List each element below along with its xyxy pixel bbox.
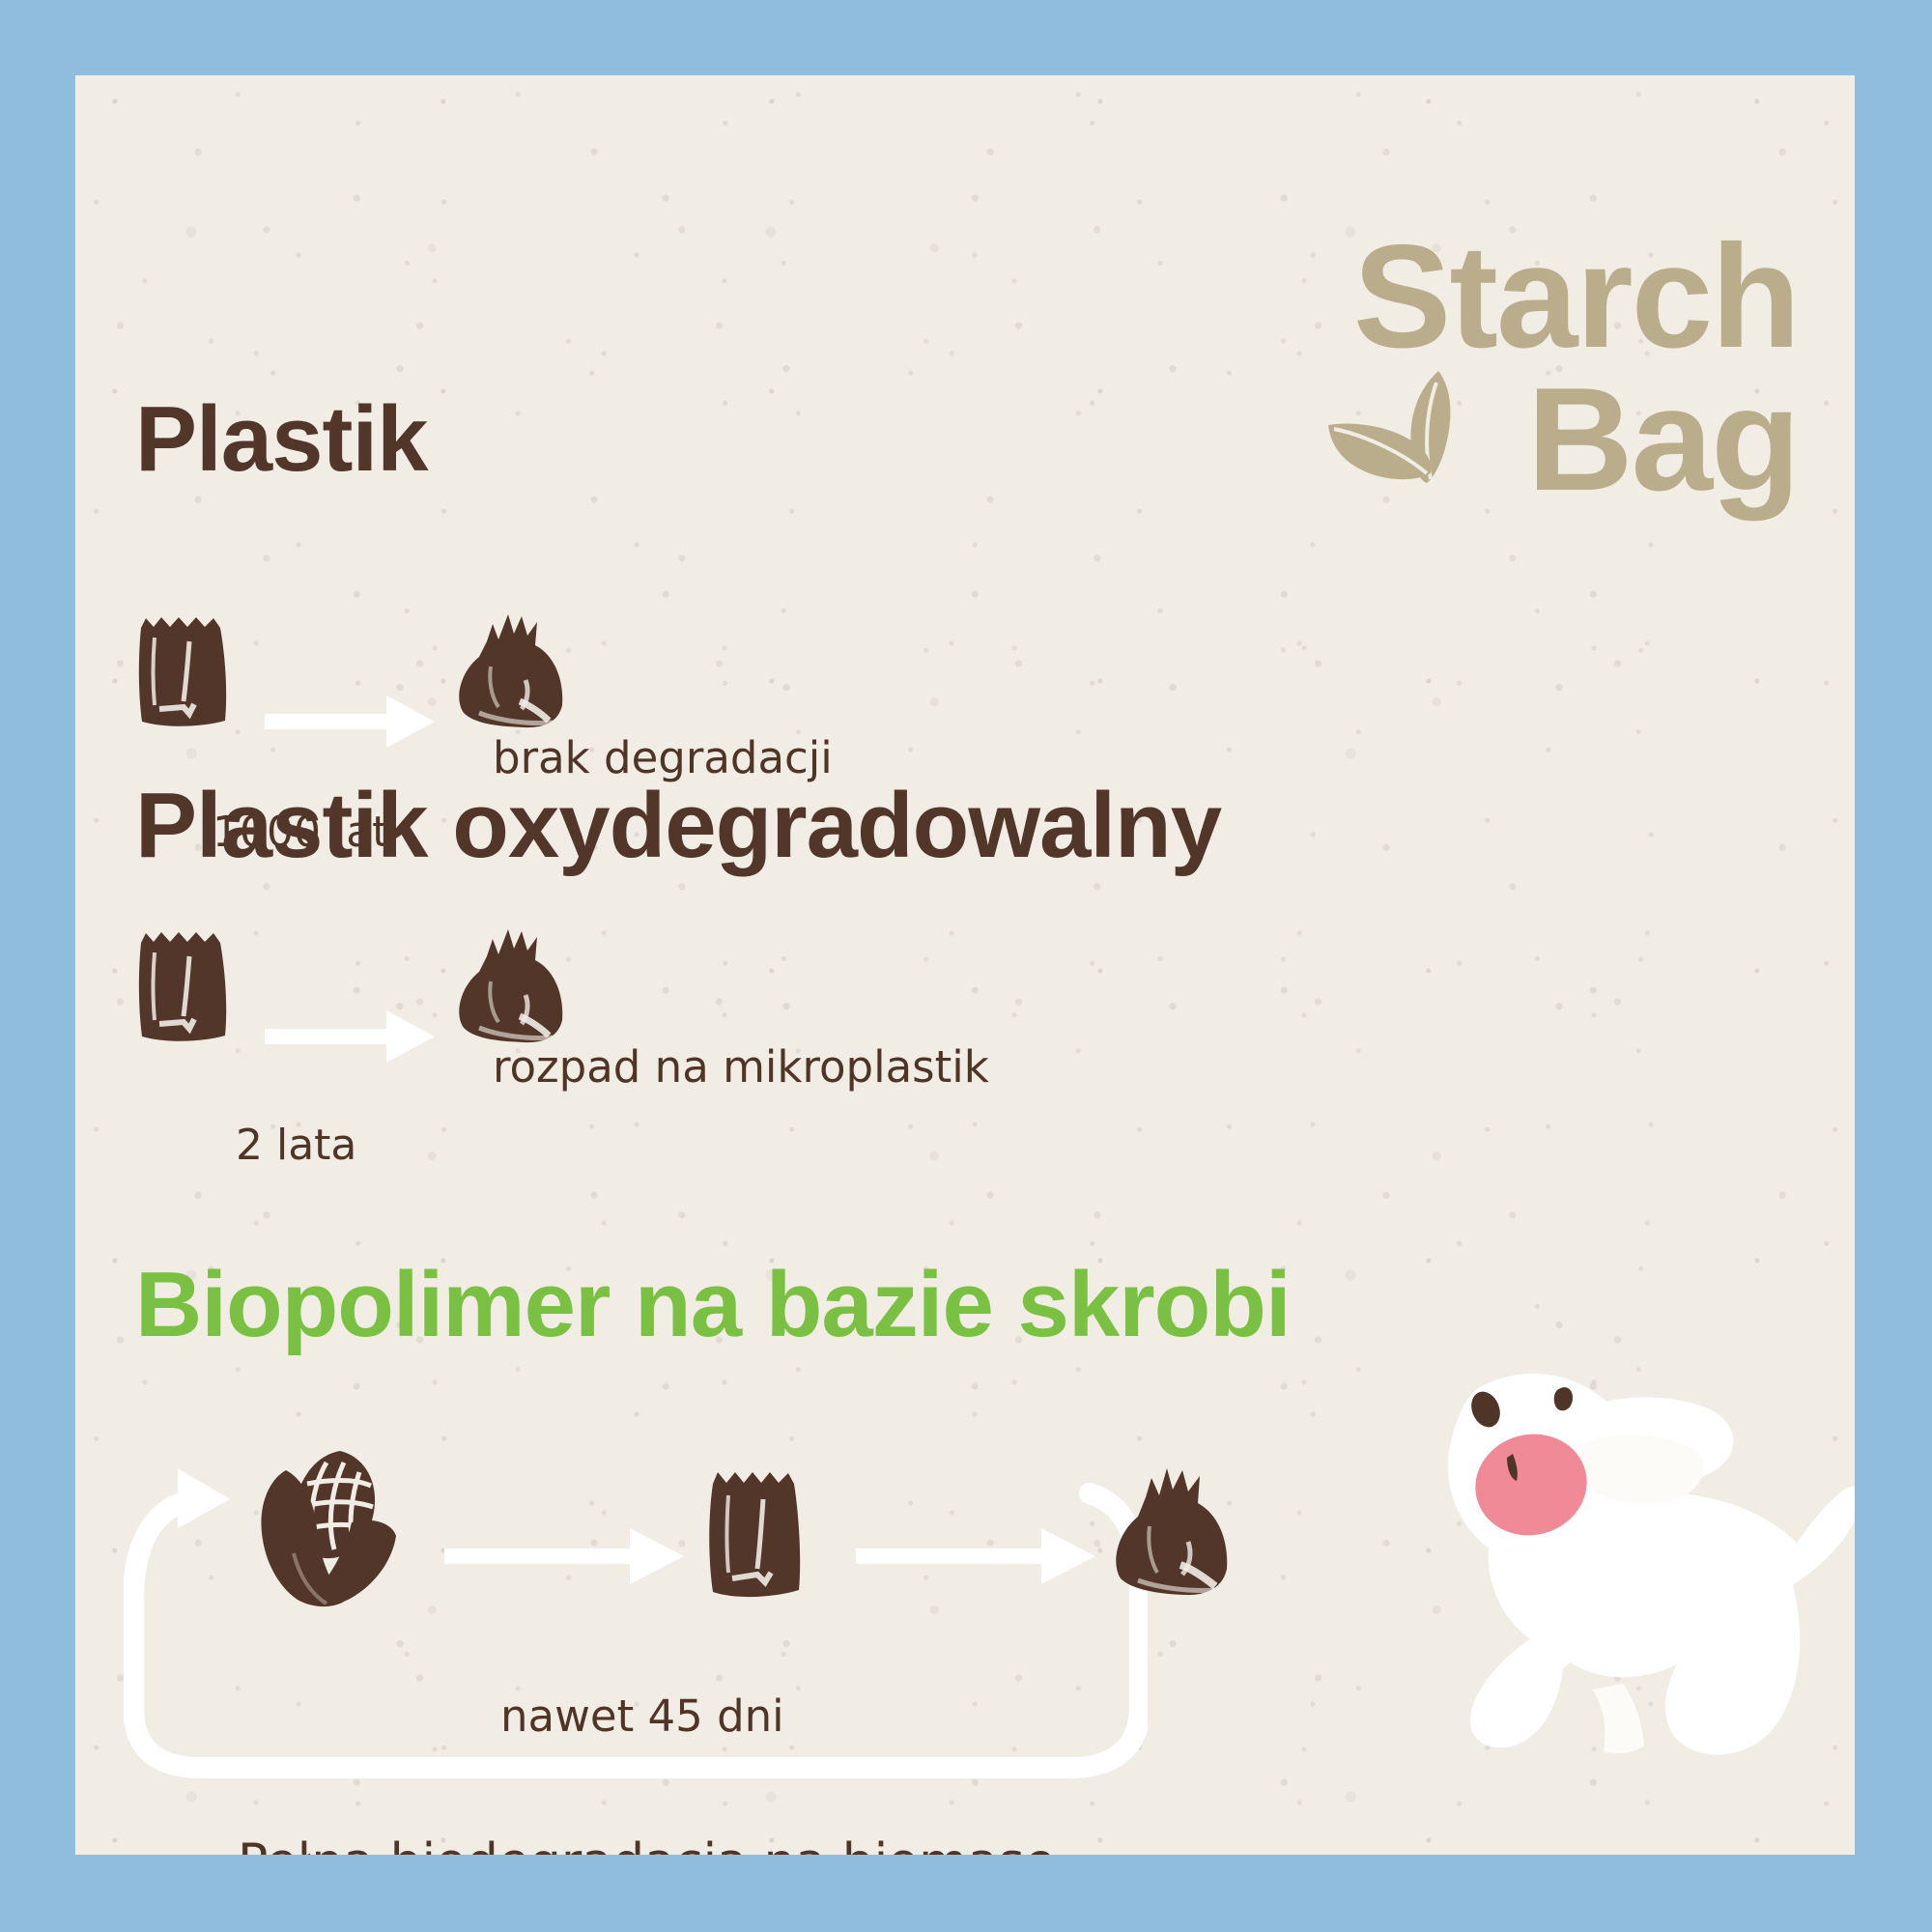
white-rabbit-illustration: [1323, 1350, 1855, 1770]
bag-icon: [133, 927, 234, 1050]
leaf-mark-icon: [1324, 365, 1518, 495]
bag-icon: [133, 612, 234, 735]
section-oxy-result: rozpad na mikroplastik: [493, 1041, 989, 1093]
section-biopolymer-duration: nawet 45 dni: [500, 1690, 784, 1742]
logo-line-starch: Starch: [1324, 230, 1799, 365]
arrow-right-icon: [444, 1526, 688, 1591]
poster-canvas: Starch Bag Plastik: [75, 75, 1855, 1855]
section-plastic-heading: Plastik: [135, 386, 428, 493]
crumpled-bag-icon: [1111, 1466, 1231, 1603]
arrow-right-icon: [856, 1526, 1099, 1591]
brand-logo: Starch Bag: [1324, 230, 1799, 508]
arrow-right-icon: [265, 1009, 439, 1069]
corn-icon: [251, 1447, 398, 1616]
section-biopolymer-heading: Biopolimer na bazie skrobi: [135, 1252, 1291, 1358]
section-oxy-duration: 2 lata: [236, 1121, 356, 1170]
arrow-right-icon: [265, 694, 439, 754]
section-oxy-heading: Plastik oxydegradowalny: [135, 773, 1221, 879]
crumpled-bag-icon: [454, 612, 566, 735]
crumpled-bag-icon: [454, 927, 566, 1050]
section-biopolymer-result: Pełna biodegradacja na biomasę: [238, 1833, 1056, 1855]
logo-row-bag: Bag: [1324, 365, 1799, 508]
bag-icon: [703, 1466, 808, 1606]
logo-line-bag: Bag: [1527, 373, 1799, 508]
